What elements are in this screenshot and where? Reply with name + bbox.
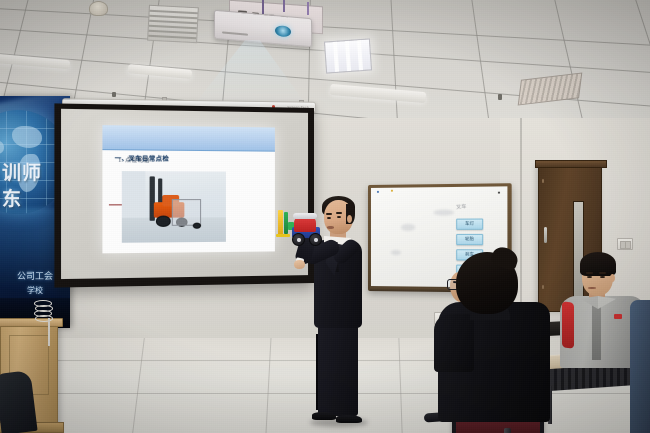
- toy-forklift-roof: [293, 213, 317, 219]
- classroom-photo: 训师 东 公司工会 学校 Screen Tech 一、叉车日常点检 1. 点检轮…: [0, 0, 650, 433]
- projector-cable: [283, 0, 305, 12]
- smoke-detector-icon: [89, 1, 108, 16]
- whiteboard-card-label: 车灯: [457, 221, 482, 227]
- toy-forklift-fork: [276, 234, 290, 237]
- presenter-leg-seam: [316, 334, 318, 410]
- presenter-shoe: [336, 415, 362, 423]
- presentation-slide: 一、叉车日常点检 1. 点检轮胎: [102, 125, 275, 253]
- presenter-shoe: [312, 412, 336, 420]
- toy-forklift-wheel: [309, 233, 322, 246]
- attendee-ear: [610, 274, 615, 282]
- slide-forklift-photo: [122, 171, 226, 243]
- uniform-red-stripe: [562, 301, 574, 348]
- presenter-left-hand: [294, 260, 305, 269]
- toy-forklift-mast: [278, 210, 283, 235]
- ceiling-air-vent: [147, 5, 199, 44]
- presenter-ear: [347, 215, 352, 223]
- uniform-badge: [614, 314, 622, 319]
- attendee-shoulder: [434, 314, 474, 372]
- foreground-attendee: [432, 252, 554, 433]
- attendee-partial-edge: [630, 300, 650, 433]
- whiteboard-card[interactable]: 车灯: [456, 218, 483, 229]
- door-top-trim: [535, 160, 607, 168]
- door-handle-icon[interactable]: [544, 227, 547, 243]
- ceiling-fixture-stub: [498, 94, 502, 100]
- toy-forklift-wheel: [292, 233, 305, 246]
- podium-top-surface: [0, 318, 63, 327]
- wall-light-switch[interactable]: [617, 238, 633, 250]
- ceiling-strip-light: [128, 64, 193, 79]
- toy-forklift-model: [276, 208, 324, 244]
- whiteboard-card-label: 轮胎: [457, 236, 482, 242]
- hanging-cable: [48, 318, 50, 346]
- screen-surface: 一、叉车日常点检 1. 点检轮胎: [61, 109, 308, 279]
- ceiling-air-vent: [518, 72, 583, 105]
- slide-title-bar: [102, 125, 275, 152]
- ceiling-panel-light: [324, 38, 372, 73]
- whiteboard-scribble: 叉车: [456, 203, 467, 211]
- whiteboard-card[interactable]: 轮胎: [456, 234, 483, 245]
- ceiling-fixture-stub: [112, 92, 116, 97]
- projector-lens-icon: [275, 25, 291, 37]
- office-chair-post: [504, 428, 511, 433]
- projector-cable: [262, 0, 280, 14]
- presenter-mouth: [327, 226, 334, 229]
- projection-screen: 一、叉车日常点检 1. 点检轮胎: [54, 103, 314, 287]
- presenter-legs: [318, 324, 358, 416]
- slide-subtitle: 1. 点检轮胎: [118, 156, 150, 165]
- attendee-mouth: [588, 287, 596, 289]
- projector-cable: [307, 2, 323, 15]
